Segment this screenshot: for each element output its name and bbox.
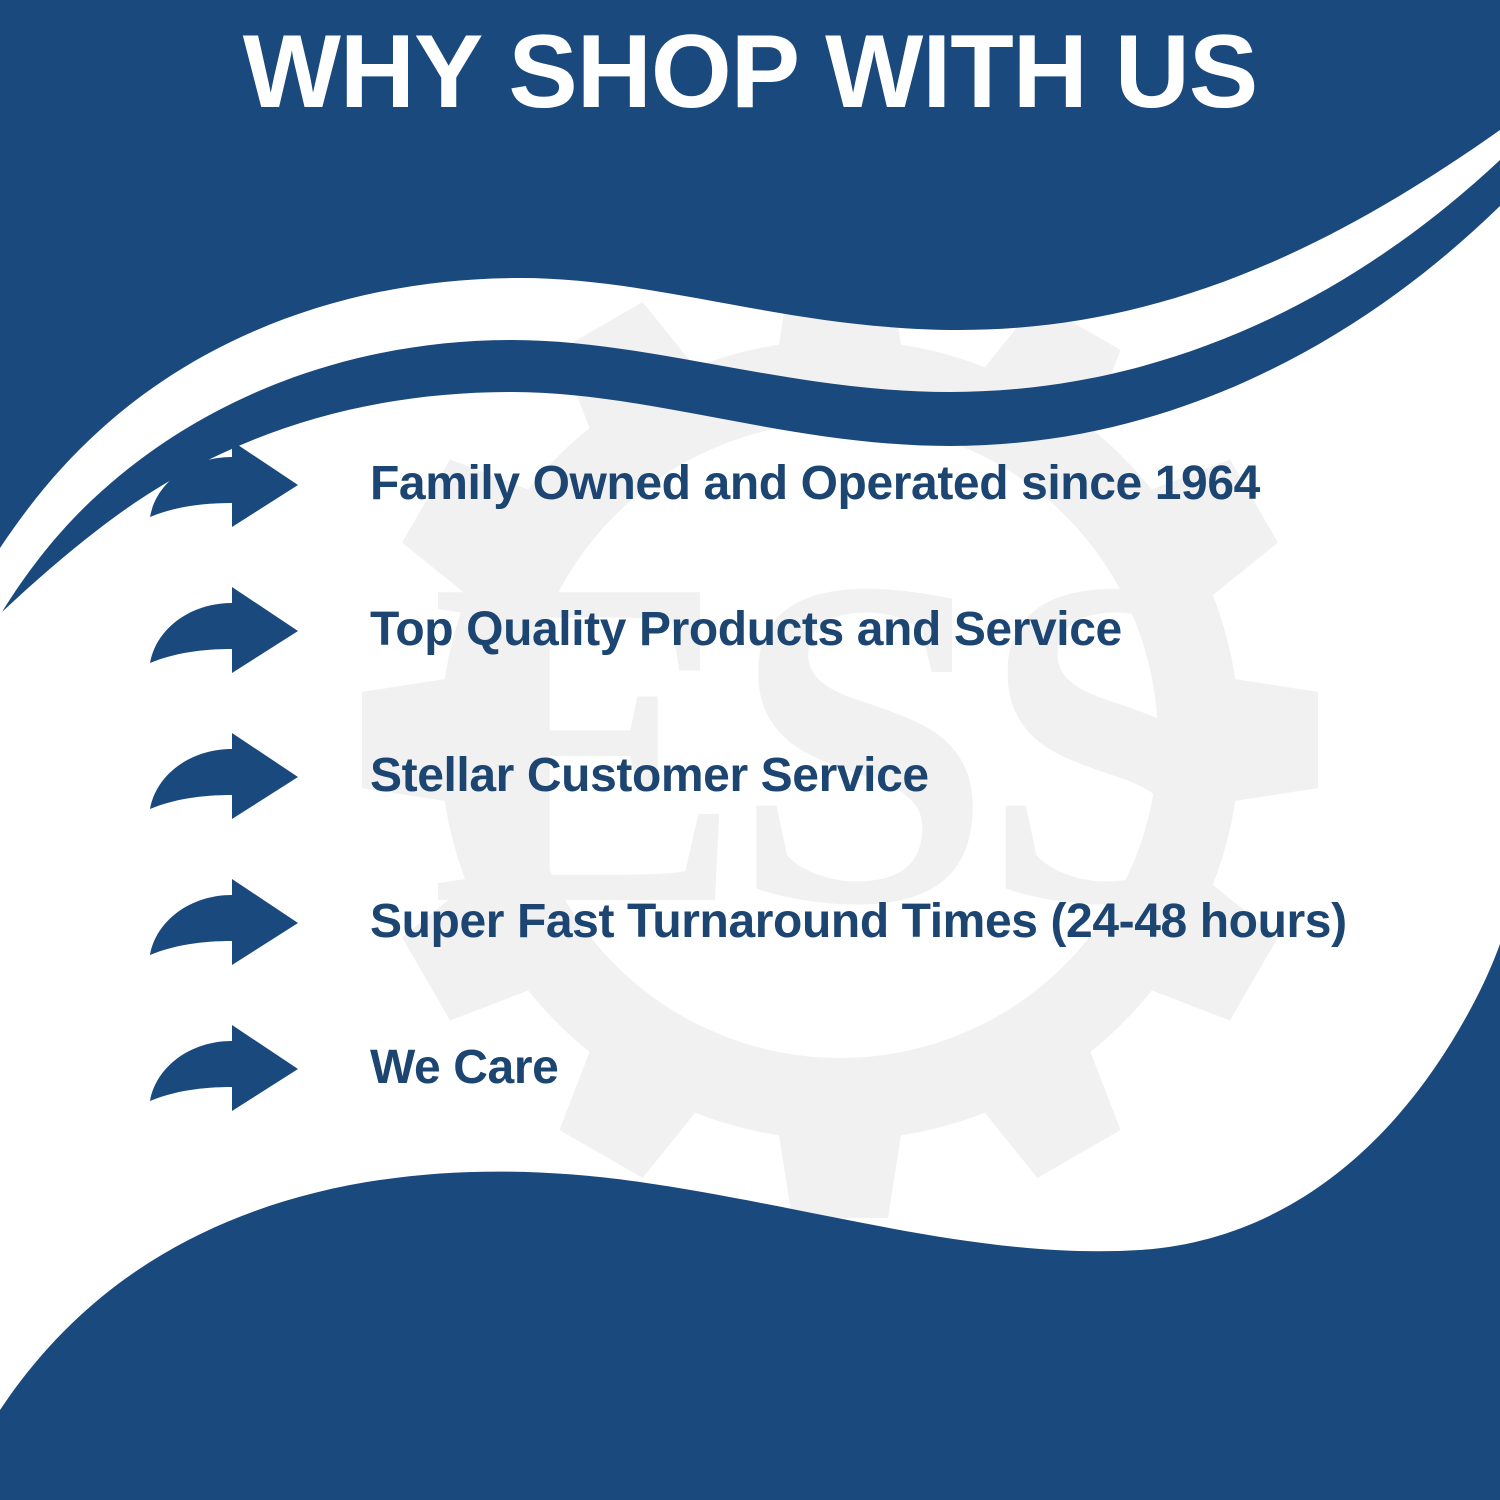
curved-arrow-right-icon xyxy=(150,1025,298,1111)
benefit-label: Top Quality Products and Service xyxy=(370,604,1470,657)
benefit-item: Family Owned and Operated since 1964 xyxy=(150,432,1470,536)
poster-canvas: ESS WHY SHOP WITH US Family Owned and Op… xyxy=(0,0,1500,1500)
benefit-item: We Care xyxy=(150,1016,1470,1120)
curved-arrow-right-icon xyxy=(150,441,298,527)
benefit-label: Family Owned and Operated since 1964 xyxy=(370,458,1470,511)
benefit-label: Super Fast Turnaround Times (24-48 hours… xyxy=(370,896,1470,949)
benefits-list: Family Owned and Operated since 1964 Top… xyxy=(150,432,1470,1162)
curved-arrow-right-icon xyxy=(150,587,298,673)
benefit-item: Stellar Customer Service xyxy=(150,724,1470,828)
benefit-label: Stellar Customer Service xyxy=(370,750,1470,803)
benefit-item: Super Fast Turnaround Times (24-48 hours… xyxy=(150,870,1470,974)
benefit-label: We Care xyxy=(370,1042,1470,1095)
curved-arrow-right-icon xyxy=(150,733,298,819)
curved-arrow-right-icon xyxy=(150,879,298,965)
page-title: WHY SHOP WITH US xyxy=(0,18,1500,127)
benefit-item: Top Quality Products and Service xyxy=(150,578,1470,682)
